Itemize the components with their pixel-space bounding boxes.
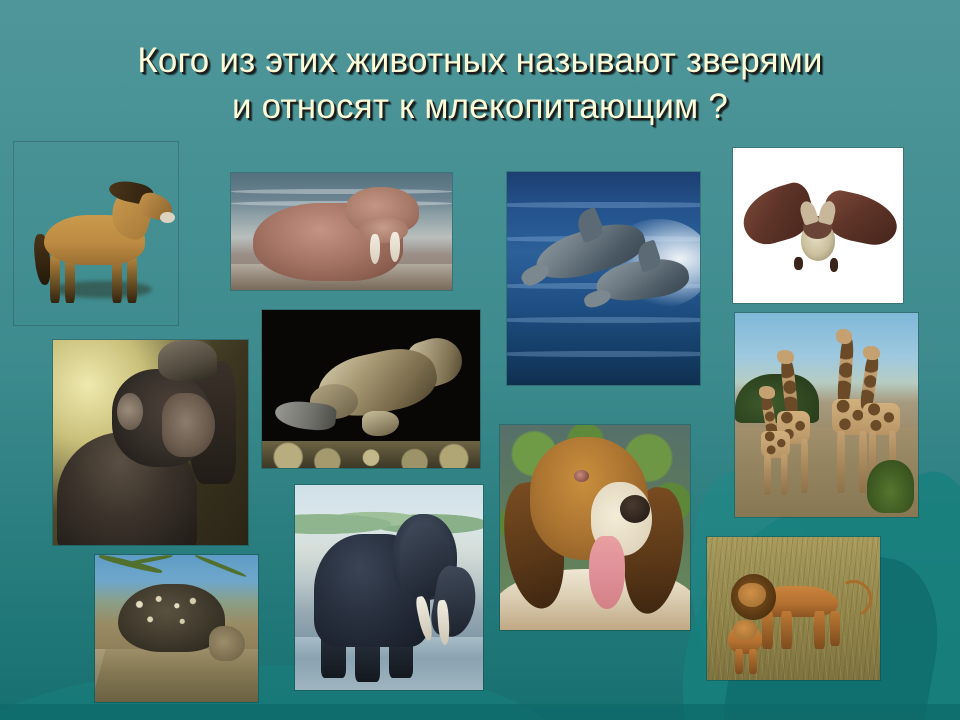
chimpanzee-ear: [117, 393, 142, 430]
platypus-foot: [362, 411, 399, 436]
bat-scene: [733, 148, 903, 303]
giraffe-calf-head: [759, 386, 775, 398]
giraffe-head: [777, 350, 793, 364]
dolphin-rostrum: [583, 287, 613, 310]
walrus-snout: [359, 217, 408, 243]
river-gravel: [262, 441, 480, 468]
photo-bat: летучая мышь: [733, 148, 903, 303]
giraffe-scene: [735, 313, 918, 517]
sea-wave: [231, 189, 452, 194]
water-ripple: [507, 202, 700, 208]
photo-giraffes: жирафы: [735, 313, 918, 517]
giraffe-calf-leg: [781, 454, 787, 495]
photo-walrus: морж: [231, 173, 452, 290]
bat-foot: [794, 257, 803, 271]
decorative-bottom-band: [0, 704, 960, 720]
elephant-scene: [295, 485, 483, 690]
giraffe-leg: [801, 439, 808, 492]
photo-platypus: утконос: [262, 310, 480, 468]
giraffe-head: [863, 346, 879, 360]
platypus-scene: [262, 310, 480, 468]
photo-lions: львы: [707, 537, 880, 680]
giraffe-leg: [859, 431, 866, 492]
dolphin-scene: [507, 172, 700, 385]
photo-chimpanzee: шимпанзе: [53, 340, 248, 545]
savanna-shrub: [867, 460, 915, 513]
water-ripple: [507, 317, 700, 323]
plant-twig: [194, 555, 247, 578]
water-ripple: [507, 351, 700, 357]
lion-head: [738, 583, 766, 607]
hedgehog-snout: [209, 626, 245, 661]
hedgehog-scene: [95, 555, 258, 702]
lion-leg: [781, 611, 791, 648]
lioness-leg: [735, 649, 744, 675]
photo-elephant: слон: [295, 485, 483, 690]
slide-title: Кого из этих животных называют зверями и…: [0, 38, 960, 130]
chimpanzee-face: [162, 393, 215, 457]
decorative-ribbon-bottom-left: [0, 665, 580, 720]
photo-hedgehog: ёж: [95, 555, 258, 702]
dog-scene: [500, 425, 690, 630]
photo-dolphins: дельфины: [507, 172, 700, 385]
lion-leg: [830, 611, 840, 645]
horse-leg: [127, 255, 137, 303]
walrus-tusk: [390, 232, 400, 262]
giraffe-leg: [837, 431, 844, 492]
lion-leg: [814, 611, 824, 648]
photo-horse: лошадь: [14, 142, 178, 325]
giraffe-neck: [837, 337, 855, 407]
walrus-scene: [231, 173, 452, 290]
chimpanzee-scene: [53, 340, 248, 545]
lioness-head: [733, 620, 757, 640]
giraffe-calf-leg: [764, 454, 770, 495]
giraffe-head: [836, 329, 852, 343]
photo-dog: собака: [500, 425, 690, 630]
background-vegetation: [295, 501, 483, 534]
horse-scene: [14, 142, 178, 325]
bat-foot: [830, 258, 839, 272]
lion-scene: [707, 537, 880, 680]
slide-canvas: Кого из этих животных называют зверями и…: [0, 0, 960, 720]
horse-muzzle: [160, 212, 175, 223]
lioness-leg: [749, 649, 758, 675]
horse-leg: [50, 255, 60, 303]
chimpanzee-hand: [158, 340, 217, 381]
